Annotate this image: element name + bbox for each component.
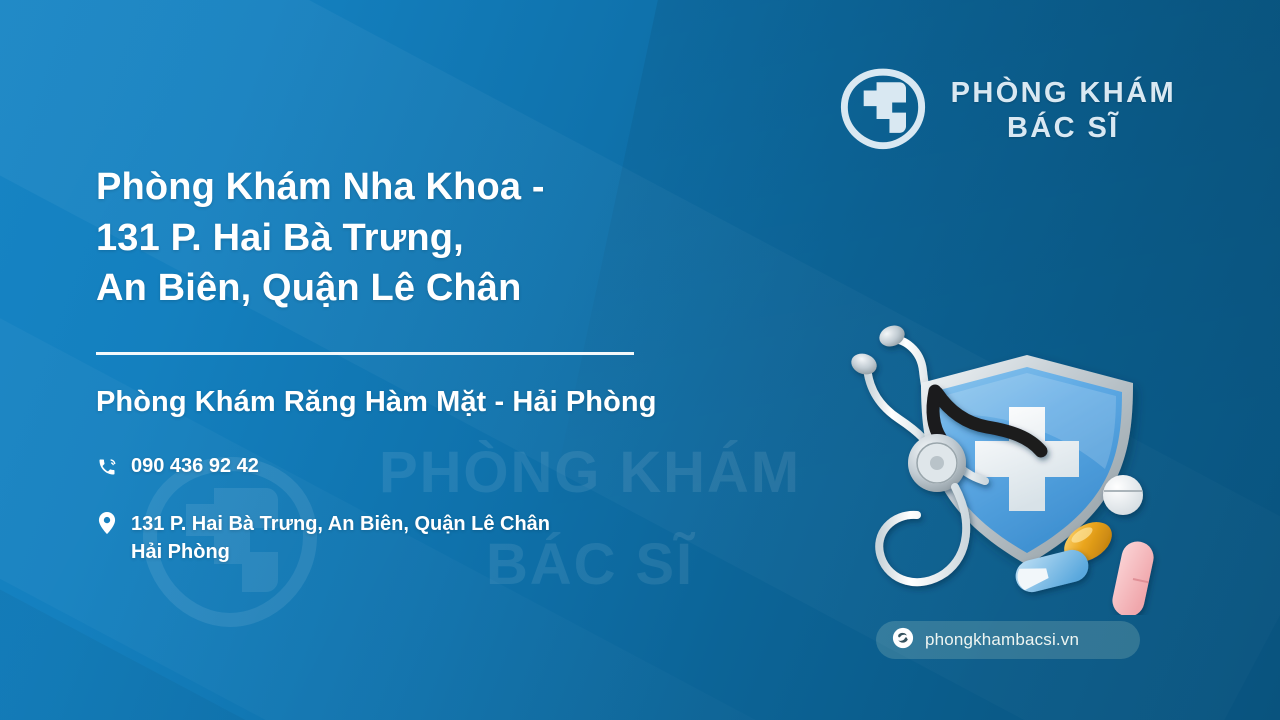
contact-address[interactable]: 131 P. Hai Bà Trưng, An Biên, Quận Lê Ch… bbox=[96, 510, 550, 567]
contact-phone[interactable]: 090 436 92 42 bbox=[96, 455, 259, 478]
page-title-line-3: An Biên, Quận Lê Chân bbox=[96, 263, 545, 314]
website-badge[interactable]: phongkhambacsi.vn bbox=[876, 621, 1140, 659]
medical-illustration bbox=[845, 315, 1205, 615]
watermark-line-1: PHÒNG KHÁM bbox=[350, 436, 830, 510]
page-title-line-1: Phòng Khám Nha Khoa - bbox=[96, 162, 545, 213]
brand-logo-line-1: PHÒNG KHÁM bbox=[951, 76, 1176, 110]
page-title-line-2: 131 P. Hai Bà Trưng, bbox=[96, 213, 545, 264]
pink-capsule-icon bbox=[1109, 539, 1156, 615]
website-url: phongkhambacsi.vn bbox=[925, 630, 1079, 650]
location-pin-icon bbox=[96, 510, 118, 534]
brand-logo-text: PHÒNG KHÁM BÁC SĨ bbox=[951, 76, 1176, 144]
white-tablet-icon bbox=[1103, 475, 1143, 515]
brand-logo: PHÒNG KHÁM BÁC SĨ bbox=[837, 62, 1176, 159]
phone-icon bbox=[96, 455, 118, 477]
clinic-banner: PHÒNG KHÁM BÁC SĨ PHÒNG KHÁM BÁC SĨ Phòn… bbox=[0, 0, 1280, 720]
page-subtitle: Phòng Khám Răng Hàm Mặt - Hải Phòng bbox=[96, 386, 657, 419]
page-title: Phòng Khám Nha Khoa - 131 P. Hai Bà Trưn… bbox=[96, 162, 545, 314]
brand-logo-line-2: BÁC SĨ bbox=[951, 111, 1176, 145]
globe-icon bbox=[892, 627, 914, 654]
title-divider bbox=[96, 352, 634, 355]
contact-phone-value: 090 436 92 42 bbox=[131, 455, 259, 478]
contact-address-value: 131 P. Hai Bà Trưng, An Biên, Quận Lê Ch… bbox=[131, 510, 550, 567]
clinic-tooth-cross-logo-icon bbox=[837, 62, 929, 159]
